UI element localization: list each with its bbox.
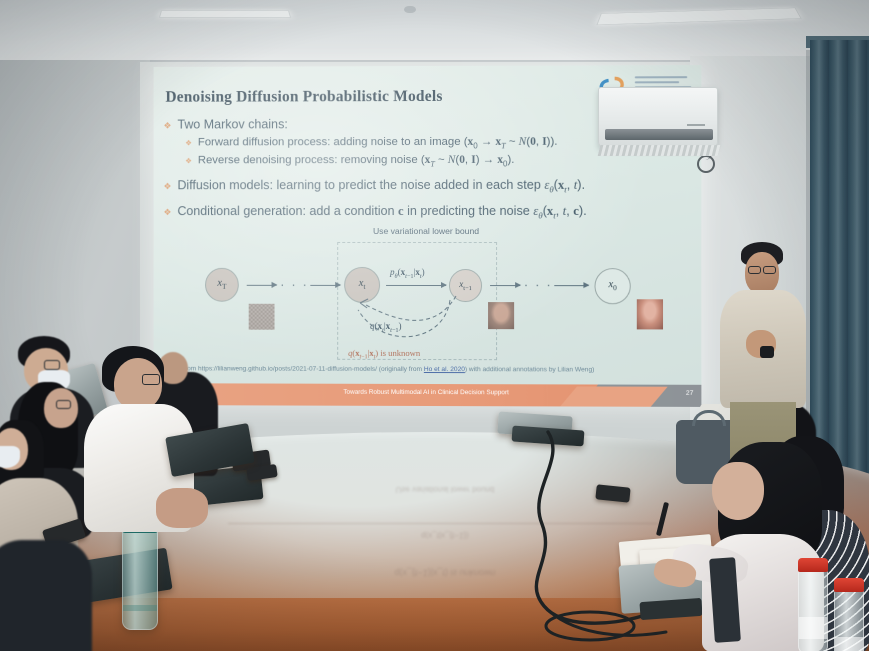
arrow-right-icon bbox=[490, 285, 520, 286]
diagram-node-xT: xT bbox=[205, 268, 239, 302]
water-bottle[interactable] bbox=[798, 568, 828, 651]
air-conditioner bbox=[598, 87, 718, 148]
head bbox=[712, 462, 764, 520]
slide-title: Denoising Diffusion Probabilistic Models bbox=[165, 88, 442, 107]
torso bbox=[0, 540, 92, 651]
glasses-icon bbox=[56, 400, 71, 409]
reverse-transition-label: q(xt|xt−1) bbox=[370, 321, 401, 334]
ellipsis: ∙ ∙ ∙ bbox=[524, 277, 552, 292]
bullet-text: Diffusion models: learning to predict th… bbox=[177, 177, 585, 197]
slide-page-number: 27 bbox=[686, 390, 693, 397]
forward-transition-label: pθ(xt−1|xt) bbox=[390, 267, 425, 280]
citation-link[interactable]: Ho et al. 2020 bbox=[424, 366, 465, 373]
diamond-bullet-icon: ❖ bbox=[185, 139, 192, 146]
conference-room-scene: Denoising Diffusion Probabilistic Models… bbox=[0, 0, 869, 651]
bottle-band bbox=[123, 605, 157, 611]
thumbnail-face-clean bbox=[637, 299, 663, 329]
ac-vent bbox=[605, 129, 713, 140]
smoke-detector-icon bbox=[404, 6, 416, 13]
diamond-bullet-icon: ❖ bbox=[185, 158, 192, 165]
water-bottle[interactable] bbox=[834, 588, 864, 651]
audience-member bbox=[0, 540, 102, 651]
glasses-icon bbox=[44, 360, 60, 370]
slide-footer-bar: April 18, 2025 Towards Robust Multimodal… bbox=[154, 383, 702, 407]
bullet-text: Conditional generation: add a condition … bbox=[177, 203, 586, 222]
bullet-text: Two Markov chains: bbox=[177, 116, 287, 133]
ceiling-light-panel bbox=[159, 10, 291, 17]
bottle-label bbox=[799, 617, 827, 639]
arrow-right-icon bbox=[310, 285, 340, 286]
wristwatch bbox=[760, 346, 774, 358]
ac-indicator bbox=[687, 124, 705, 126]
bottle-cap bbox=[834, 578, 864, 592]
slide-citation: (picture from https://lilianweng.github.… bbox=[160, 365, 700, 373]
ellipsis: ∙ ∙ ∙ bbox=[280, 277, 308, 292]
bullet-level1: ❖ Conditional generation: add a conditio… bbox=[163, 203, 693, 222]
glasses-icon bbox=[142, 374, 160, 385]
unknown-posterior-note: q(xt−1|xt) is unknown bbox=[348, 348, 420, 361]
arm bbox=[156, 488, 208, 528]
bottle-cap bbox=[798, 558, 828, 572]
ac-grill bbox=[598, 145, 721, 156]
glasses-icon bbox=[763, 266, 776, 274]
diamond-bullet-icon: ❖ bbox=[163, 209, 171, 218]
slide-footer-title: Towards Robust Multimodal AI in Clinical… bbox=[154, 388, 702, 397]
ac-cable-coil bbox=[697, 155, 715, 173]
arrow-right-icon bbox=[554, 285, 588, 286]
diamond-bullet-icon: ❖ bbox=[163, 122, 171, 131]
bottle-label bbox=[835, 637, 863, 651]
diagram-caption: Use variational lower bound bbox=[154, 226, 702, 236]
diamond-bullet-icon: ❖ bbox=[163, 183, 171, 192]
bullet-text: Forward diffusion process: adding noise … bbox=[198, 134, 558, 151]
thumbnail-noise bbox=[249, 304, 275, 330]
glasses-icon bbox=[748, 266, 761, 274]
diffusion-chain-diagram: Use variational lower bound xT ∙ ∙ ∙ xt … bbox=[154, 226, 702, 367]
bullet-text: Reverse denoising process: removing nois… bbox=[198, 153, 515, 170]
arrow-right-icon bbox=[247, 285, 277, 286]
bullet-level1: ❖ Diffusion models: learning to predict … bbox=[163, 177, 693, 197]
diagram-node-x0: x0 bbox=[594, 268, 630, 304]
